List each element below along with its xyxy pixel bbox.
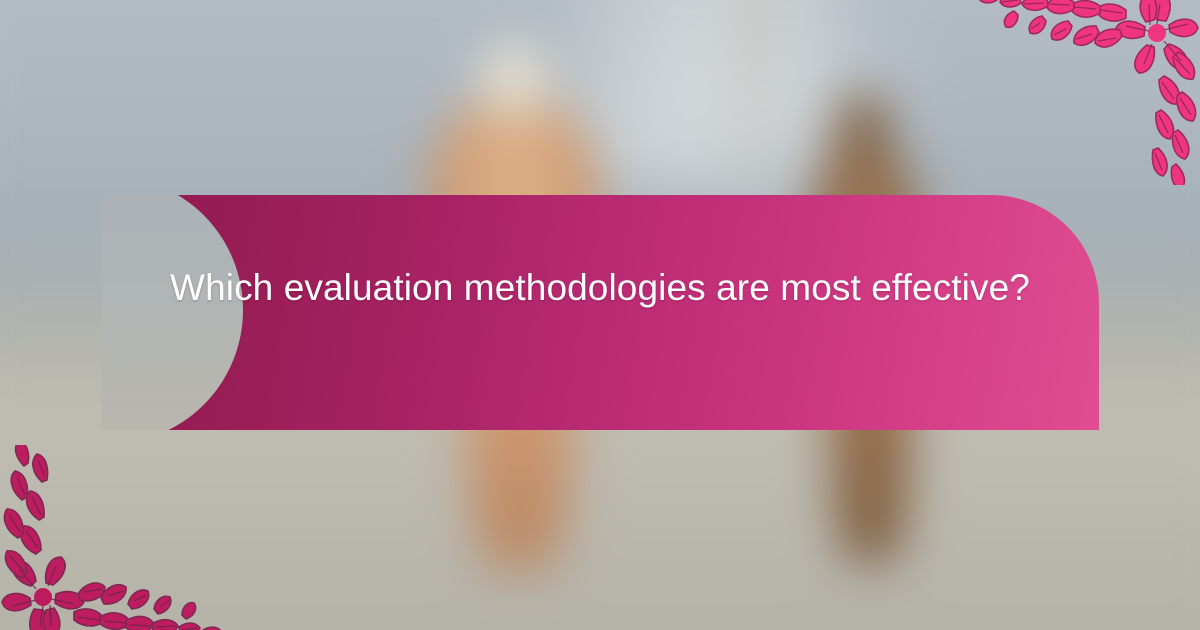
photo-pole-silhouette (734, 0, 767, 216)
photo-figure-right-head (833, 91, 892, 158)
share-card-canvas: Which evaluation methodologies are most … (0, 0, 1200, 630)
page-title: Which evaluation methodologies are most … (160, 262, 1040, 315)
photo-light-beam (550, 0, 855, 187)
